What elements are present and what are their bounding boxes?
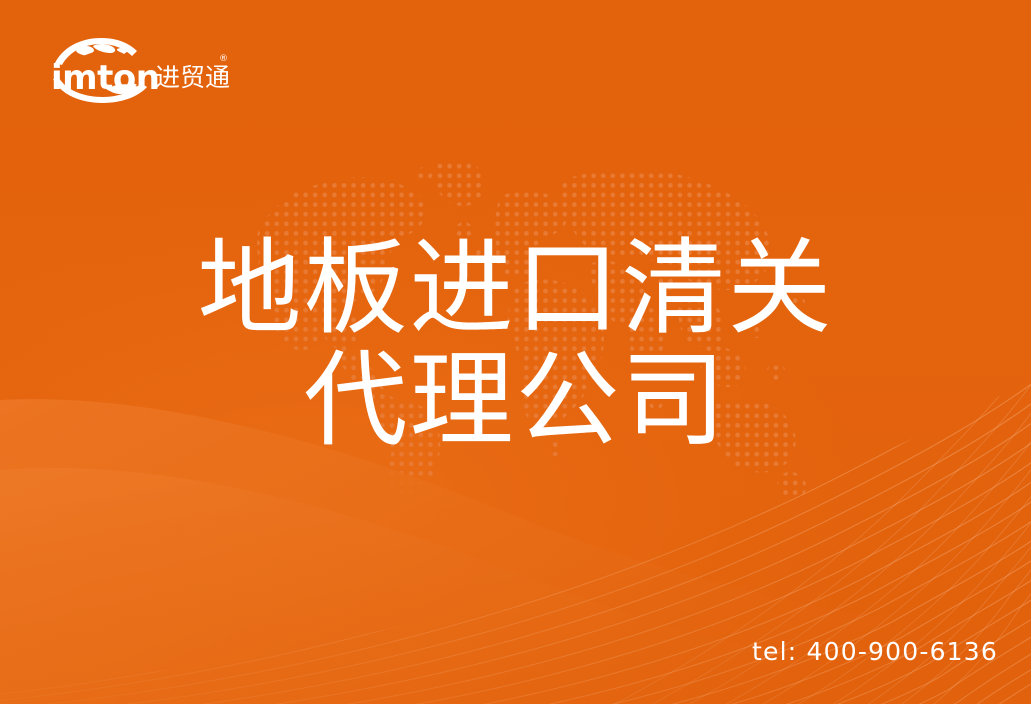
brand-logo[interactable]: imton 进贸通 ®: [33, 33, 233, 105]
headline-line-1: 地板进口清关: [0, 232, 1031, 344]
banner-root: imton 进贸通 ® 地板进口清关 代理公司 tel: 400-900-613…: [0, 0, 1031, 704]
headline-line-2: 代理公司: [0, 344, 1031, 456]
svg-text:imton: imton: [51, 58, 159, 98]
contact-phone[interactable]: tel: 400-900-6136: [752, 637, 998, 666]
page-title: 地板进口清关 代理公司: [0, 232, 1031, 456]
svg-text:®: ®: [219, 54, 228, 64]
svg-text:进贸通: 进贸通: [155, 63, 230, 92]
